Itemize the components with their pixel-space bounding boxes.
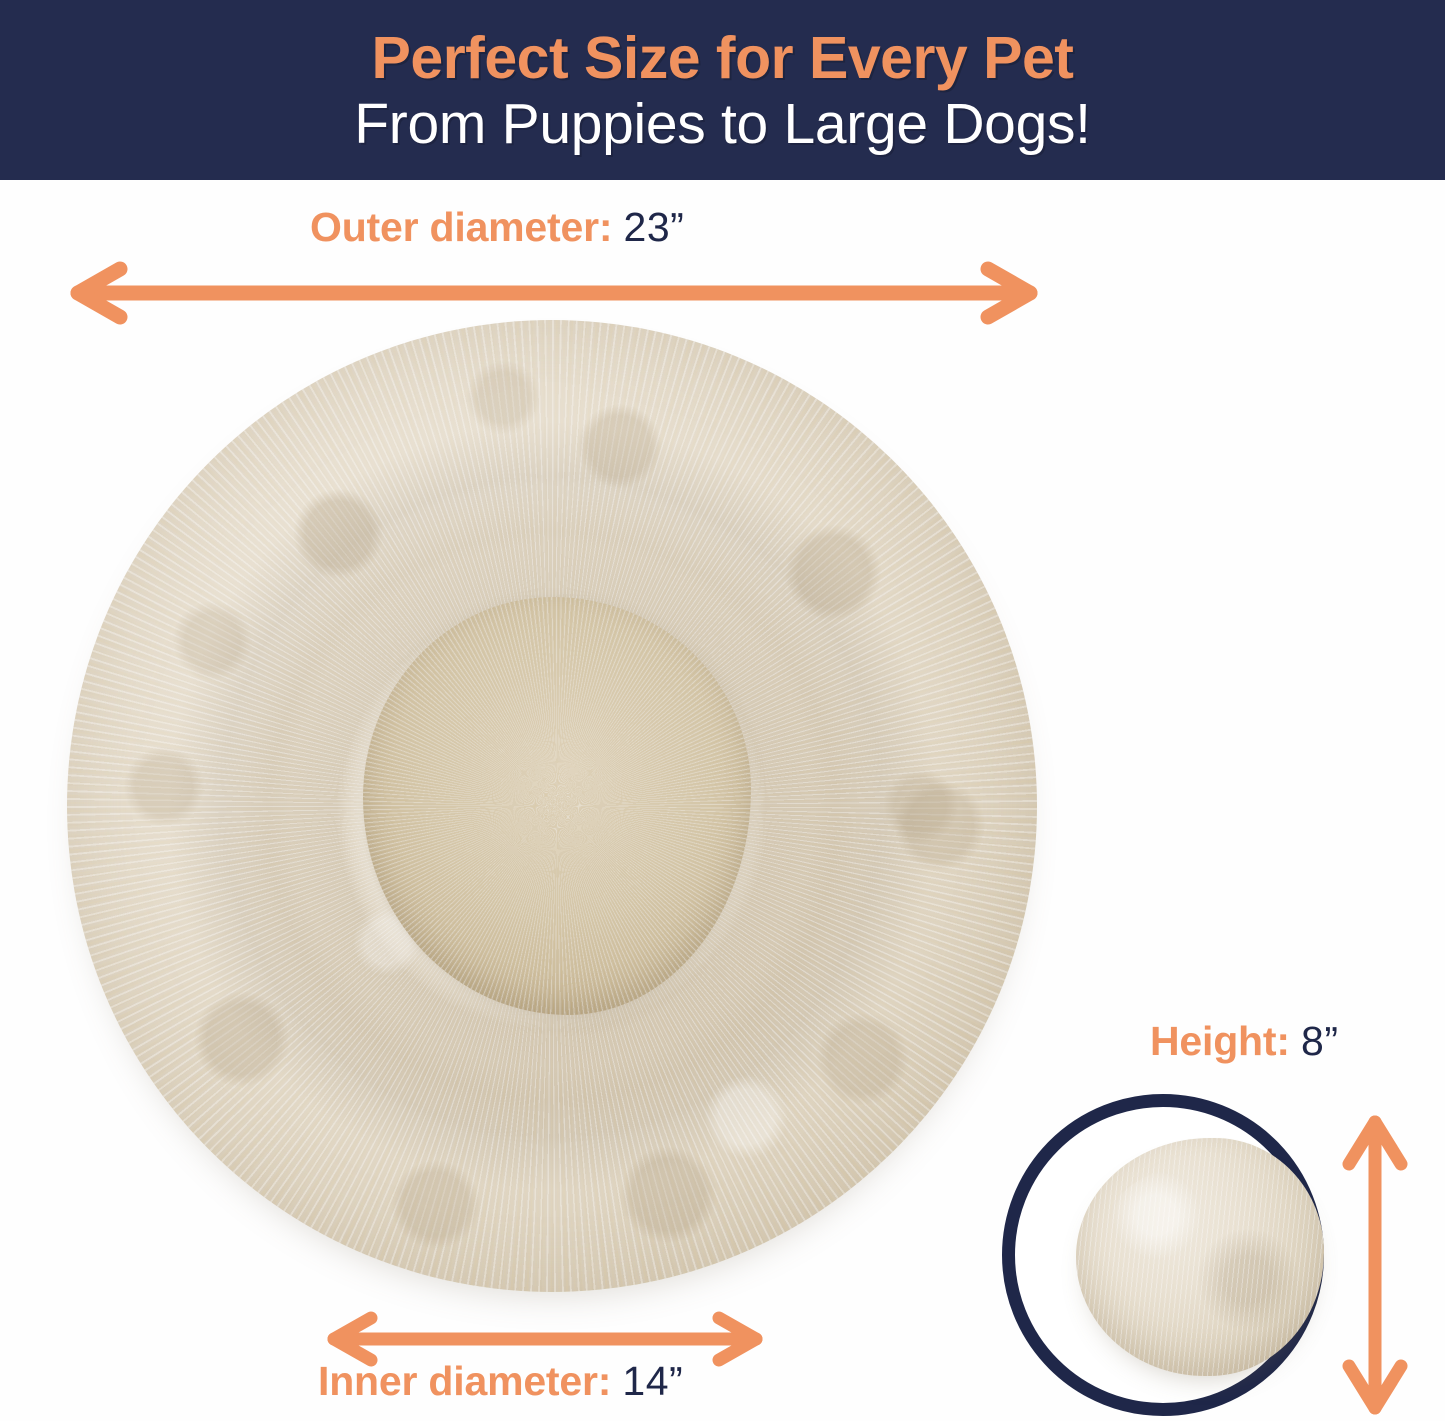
side-bed-image bbox=[1076, 1138, 1324, 1376]
inner-diameter-value: 14” bbox=[622, 1358, 683, 1404]
header-banner: Perfect Size for Every Pet From Puppies … bbox=[0, 0, 1445, 180]
height-label: Height: 8” bbox=[1150, 1018, 1338, 1065]
height-value: 8” bbox=[1301, 1018, 1338, 1064]
height-arrow-icon bbox=[1336, 1112, 1414, 1418]
outer-diameter-value: 23” bbox=[624, 204, 685, 250]
outer-diameter-label-text: Outer diameter: bbox=[310, 204, 612, 250]
main-bed-image bbox=[67, 320, 1037, 1292]
inner-diameter-label-text: Inner diameter: bbox=[318, 1358, 611, 1404]
height-label-text: Height: bbox=[1150, 1018, 1290, 1064]
subheadline: From Puppies to Large Dogs! bbox=[354, 94, 1090, 156]
side-view-inset bbox=[1002, 1094, 1324, 1416]
outer-diameter-label: Outer diameter: 23” bbox=[310, 204, 684, 251]
outer-diameter-arrow-icon bbox=[68, 262, 1040, 324]
inner-diameter-label: Inner diameter: 14” bbox=[318, 1358, 683, 1405]
headline: Perfect Size for Every Pet bbox=[372, 28, 1074, 88]
